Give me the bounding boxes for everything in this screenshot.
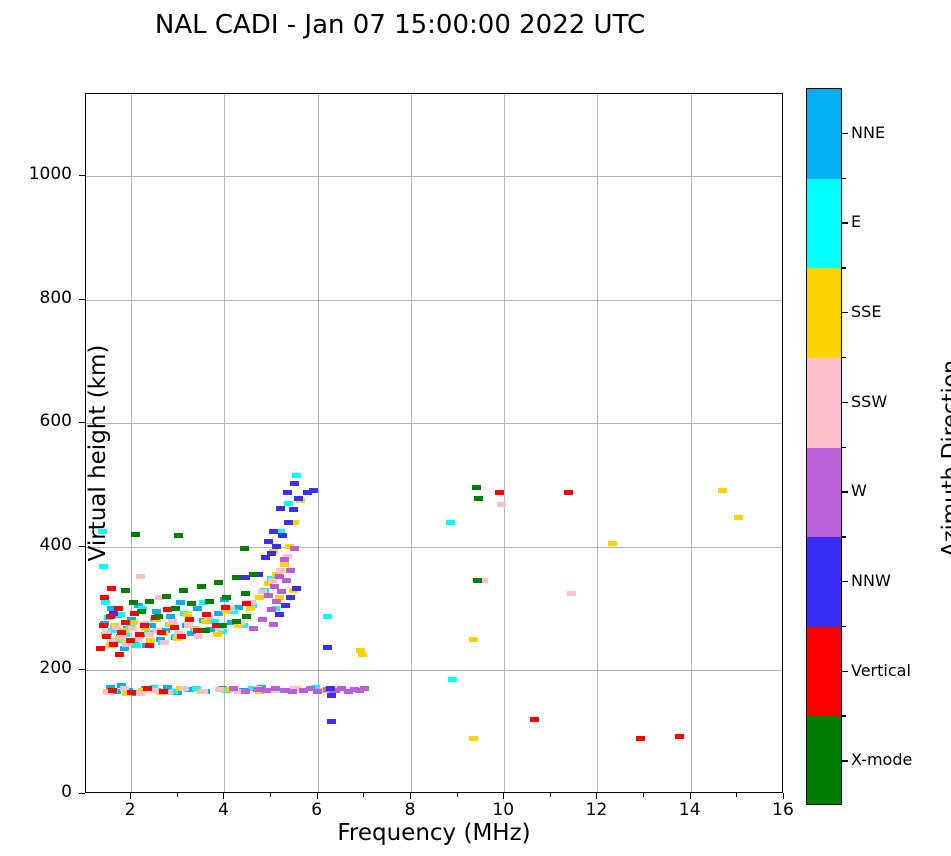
colorbar-label-nnw: NNW [851,571,891,590]
y-tick [79,299,85,300]
data-mark [280,557,289,562]
x-tick-label: 10 [473,800,533,820]
data-mark [132,643,141,648]
y-tick [79,546,85,547]
page-title: NAL CADI - Jan 07 15:00:00 2022 UTC [0,10,800,40]
x-tick [410,793,411,799]
data-mark [214,580,223,585]
data-mark [289,507,298,512]
data-mark [145,643,154,648]
data-mark [215,687,224,692]
data-mark [281,603,290,608]
x-tick [783,793,784,799]
data-mark [269,622,278,627]
data-mark [264,593,273,598]
colorbar-tick-minor [842,626,846,627]
data-mark [242,614,251,619]
data-mark [213,632,222,637]
ionogram-figure: NAL CADI - Jan 07 15:00:00 2022 UTC Freq… [0,0,951,856]
data-mark [121,588,130,593]
y-tick [79,793,85,794]
data-mark [323,614,332,619]
x-tick [130,793,131,799]
data-mark [180,686,189,691]
colorbar-label-x-mode: X-mode [851,750,912,769]
data-mark [162,594,171,599]
colorbar-band-ssw[interactable] [807,358,841,448]
gridline-horizontal [86,176,782,177]
data-mark [446,520,455,525]
data-mark [608,541,617,546]
data-mark [129,620,138,625]
data-mark [327,693,336,698]
data-mark [157,630,166,635]
gridline-horizontal [86,547,782,548]
data-mark [323,645,332,650]
data-mark [241,591,250,596]
colorbar-band-w[interactable] [807,448,841,538]
data-mark [275,574,284,579]
gridline-horizontal [86,670,782,671]
data-mark [253,687,262,692]
x-tick-label: 8 [380,800,440,820]
data-mark [218,623,227,628]
plot-area[interactable] [85,93,783,793]
data-mark [448,677,457,682]
colorbar-band-x-mode[interactable] [807,716,841,805]
data-mark [160,640,169,645]
gridline-horizontal [86,300,782,301]
colorbar-label-w: W [851,481,867,500]
colorbar-tick-minor [842,536,846,537]
x-tick-label: 4 [193,800,253,820]
data-mark [292,586,301,591]
x-tick [503,793,504,799]
data-mark [145,599,154,604]
colorbar-tick-minor [842,715,846,716]
x-tick-label: 14 [660,800,720,820]
data-mark [232,619,241,624]
data-mark [276,506,285,511]
colorbar-tick [842,760,848,761]
data-mark [179,588,188,593]
data-mark [264,539,273,544]
data-mark [117,630,126,635]
data-mark [168,619,177,624]
data-mark [126,638,135,643]
x-tick [690,793,691,799]
data-mark [145,632,154,637]
data-mark [473,578,482,583]
colorbar-label-nne: NNE [851,123,885,142]
data-mark [272,544,281,549]
colorbar-tick [842,671,848,672]
data-mark [262,688,271,693]
data-mark [137,609,146,614]
x-tick-minor [177,793,178,797]
colorbar-tick [842,581,848,582]
colorbar-tick-minor [842,178,846,179]
y-tick-label: 0 [0,782,72,802]
y-tick-label: 600 [0,411,72,431]
x-tick [596,793,597,799]
y-tick-label: 800 [0,288,72,308]
data-mark [474,496,483,501]
data-mark [249,626,258,631]
colorbar-band-e[interactable] [807,179,841,269]
colorbar-band-sse[interactable] [807,268,841,358]
data-mark [564,490,573,495]
colorbar-band-nne[interactable] [807,89,841,179]
data-mark [128,626,137,631]
colorbar-band-nnw[interactable] [807,537,841,627]
data-mark [129,600,138,605]
data-mark [292,473,301,478]
data-mark [290,481,299,486]
gridline-vertical [504,94,505,792]
data-mark [275,612,284,617]
data-mark [240,546,249,551]
x-tick-label: 16 [753,800,813,820]
data-mark [159,689,168,694]
data-mark [469,736,478,741]
data-mark [675,734,684,739]
x-tick [317,793,318,799]
y-tick-label: 1000 [0,164,72,184]
data-mark [276,568,285,573]
colorbar-tick [842,222,848,223]
data-mark [326,686,335,691]
data-mark [171,606,180,611]
data-mark [135,632,144,637]
x-tick-minor [363,793,364,797]
data-mark [185,617,194,622]
colorbar-label-e: E [851,212,861,231]
data-mark [136,574,145,579]
data-mark [143,686,152,691]
data-mark [472,485,481,490]
colorbar-tick [842,312,848,313]
data-mark [277,589,286,594]
data-mark [140,623,149,628]
data-mark [205,599,214,604]
data-mark [469,637,478,642]
data-mark [193,606,202,611]
data-mark [197,584,206,589]
gridline-horizontal [86,423,782,424]
x-tick-minor [270,793,271,797]
data-mark [184,623,193,628]
data-mark [280,562,289,567]
data-mark [242,601,251,606]
data-mark [246,606,255,611]
gridline-vertical [597,94,598,792]
data-mark [177,634,186,639]
data-mark [232,575,241,580]
data-mark [495,490,504,495]
data-mark [278,533,287,538]
data-mark [497,502,506,507]
data-mark [170,625,179,630]
data-mark [271,686,280,691]
colorbar-tick [842,133,848,134]
data-mark [229,686,238,691]
data-mark [249,572,258,577]
colorbar-tick [842,491,848,492]
data-mark [201,628,210,633]
y-tick-label: 200 [0,658,72,678]
data-mark [294,496,303,501]
data-mark [284,520,293,525]
data-mark [187,601,196,606]
data-mark [358,652,367,657]
data-mark [290,546,299,551]
y-tick [79,669,85,670]
data-mark [283,490,292,495]
y-tick [79,422,85,423]
data-mark [734,515,743,520]
x-tick-label: 12 [566,800,626,820]
colorbar-band-vertical[interactable] [807,627,841,717]
colorbar-title: Azimuth Direction [939,159,951,759]
data-mark [176,600,185,605]
y-tick [79,175,85,176]
colorbar-label-sse: SSE [851,302,881,321]
data-mark [258,617,267,622]
x-axis-label: Frequency (MHz) [85,820,783,846]
data-mark [199,689,208,694]
data-mark [327,719,336,724]
x-tick-minor [550,793,551,797]
gridline-vertical [411,94,412,792]
data-mark [221,605,230,610]
data-mark [121,620,130,625]
colorbar-tick-minor [842,447,846,448]
data-mark [286,568,295,573]
x-tick-label: 6 [287,800,347,820]
data-mark [201,619,210,624]
data-mark [284,501,293,506]
x-tick-minor [457,793,458,797]
data-mark [241,689,250,694]
data-mark [288,689,297,694]
data-mark [261,555,270,560]
data-mark [313,689,322,694]
data-mark [194,634,203,639]
data-mark [530,717,539,722]
y-axis-label: Virtual height (km) [85,103,111,803]
colorbar-label-vertical: Vertical [851,661,911,680]
data-mark [115,652,124,657]
data-mark [127,690,136,695]
data-mark [270,584,279,589]
colorbar-tick [842,402,848,403]
data-mark [136,691,145,696]
data-mark [269,529,278,534]
data-mark [267,551,276,556]
x-tick-minor [643,793,644,797]
colorbar-tick-minor [842,267,846,268]
gridline-vertical [691,94,692,792]
colorbar-tick-minor [842,357,846,358]
data-mark [174,533,183,538]
x-tick-minor [736,793,737,797]
data-mark [636,736,645,741]
data-mark [202,612,211,617]
data-mark [114,606,123,611]
data-mark [131,532,140,537]
data-mark [718,488,727,493]
data-mark [360,686,369,691]
data-mark [222,595,231,600]
colorbar-label-ssw: SSW [851,392,887,411]
y-tick-label: 400 [0,535,72,555]
x-tick [223,793,224,799]
data-mark [255,595,264,600]
x-tick-label: 2 [100,800,160,820]
data-mark [286,595,295,600]
colorbar[interactable] [806,88,842,805]
data-mark [282,578,291,583]
data-mark [154,614,163,619]
data-mark [309,488,318,493]
data-mark [567,591,576,596]
